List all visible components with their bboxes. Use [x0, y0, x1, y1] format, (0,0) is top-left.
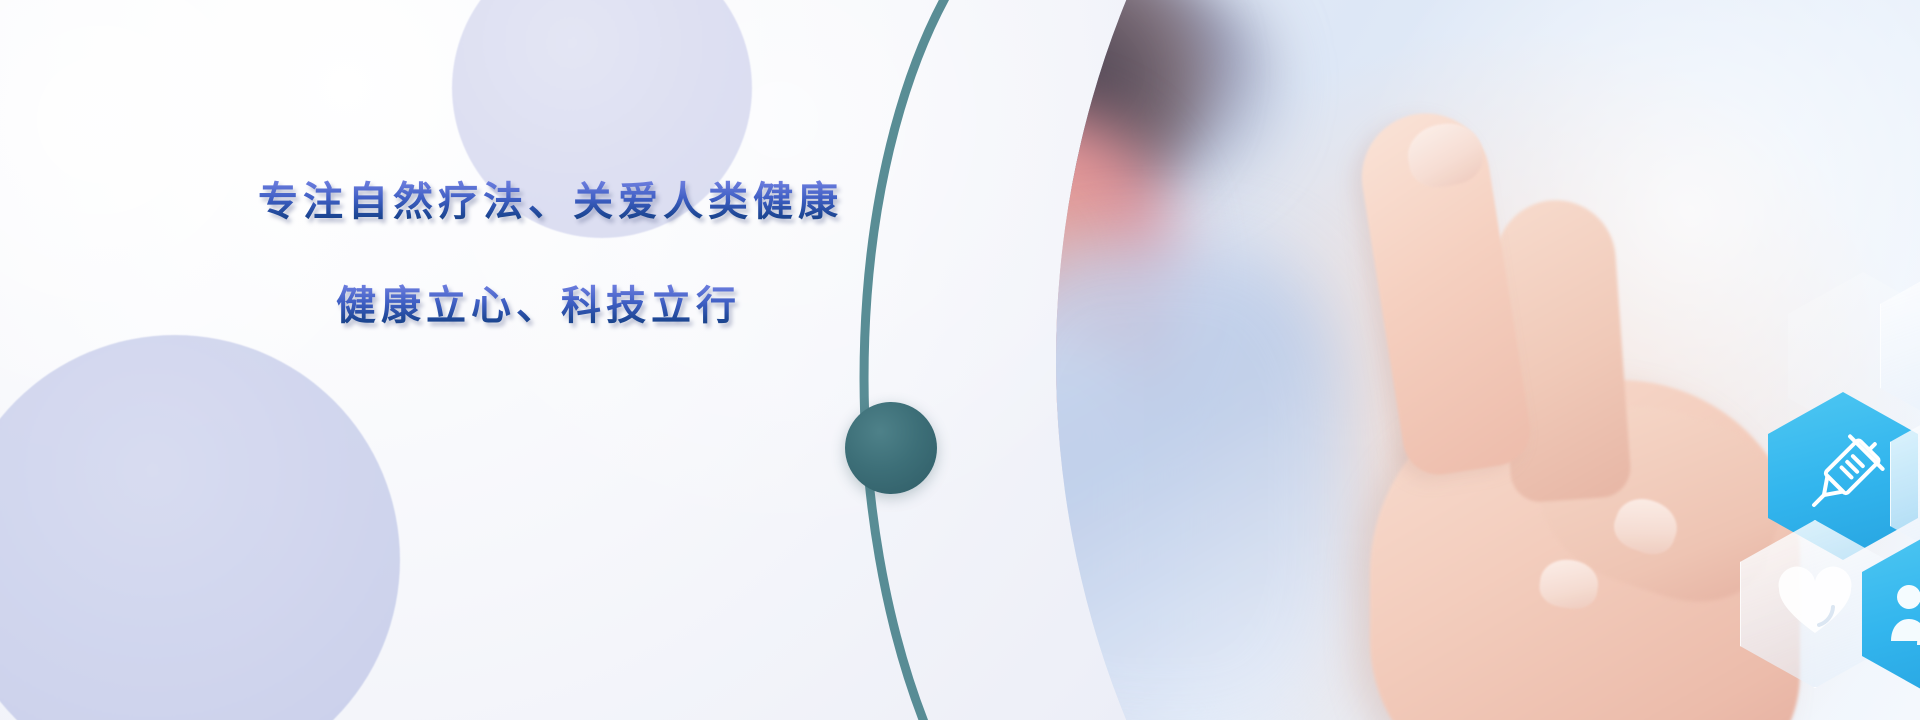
hexagon-icon-cluster: [1740, 0, 1920, 720]
hero-headline: 专注自然疗法、关爱人类健康 健康立心、科技立行: [258, 180, 878, 328]
decorative-circle-bottom: [0, 335, 400, 720]
people-group-icon: [1889, 579, 1920, 649]
headline-line-2: 健康立心、科技立行: [336, 284, 878, 328]
teal-arc-divider: [790, 0, 1030, 720]
test-tubes-icon: [1913, 300, 1920, 392]
syringe-icon: [1798, 431, 1888, 521]
heart-icon: [1773, 565, 1857, 643]
headline-line-1: 专注自然疗法、关爱人类健康: [258, 180, 878, 224]
hero-banner: 专注自然疗法、关爱人类健康 健康立心、科技立行: [0, 0, 1920, 720]
teal-node-dot: [845, 402, 937, 494]
